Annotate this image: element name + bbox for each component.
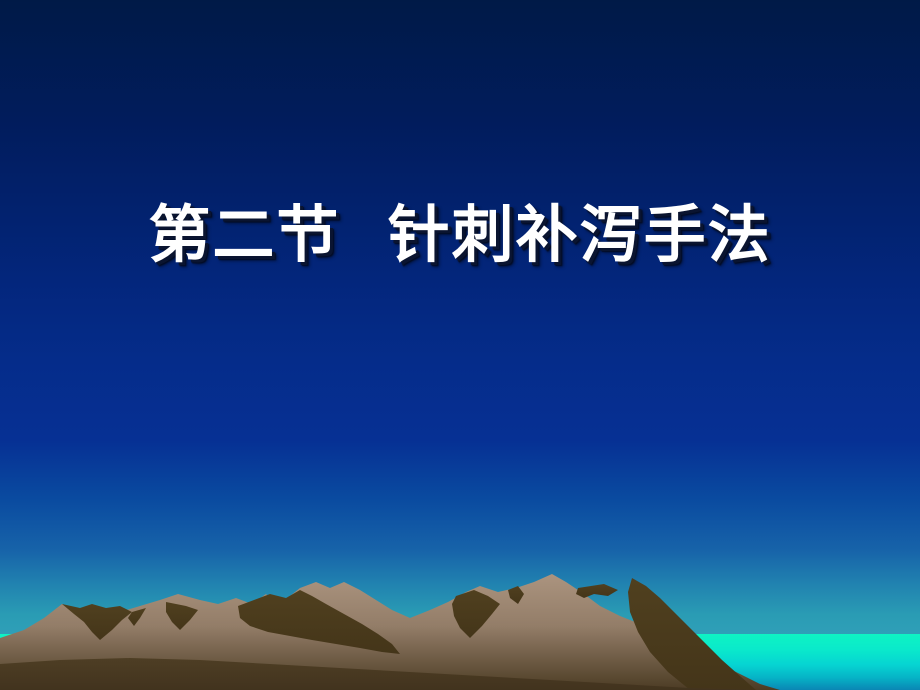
page-title: 第二节 针刺补泻手法 bbox=[148, 196, 771, 274]
slide-canvas: 第二节 针刺补泻手法 bbox=[0, 0, 920, 690]
slide-title-block: 第二节 针刺补泻手法 bbox=[0, 196, 920, 274]
mountain-silhouette-graphic bbox=[0, 560, 920, 690]
mountain-shadow-right-patch bbox=[576, 584, 618, 598]
